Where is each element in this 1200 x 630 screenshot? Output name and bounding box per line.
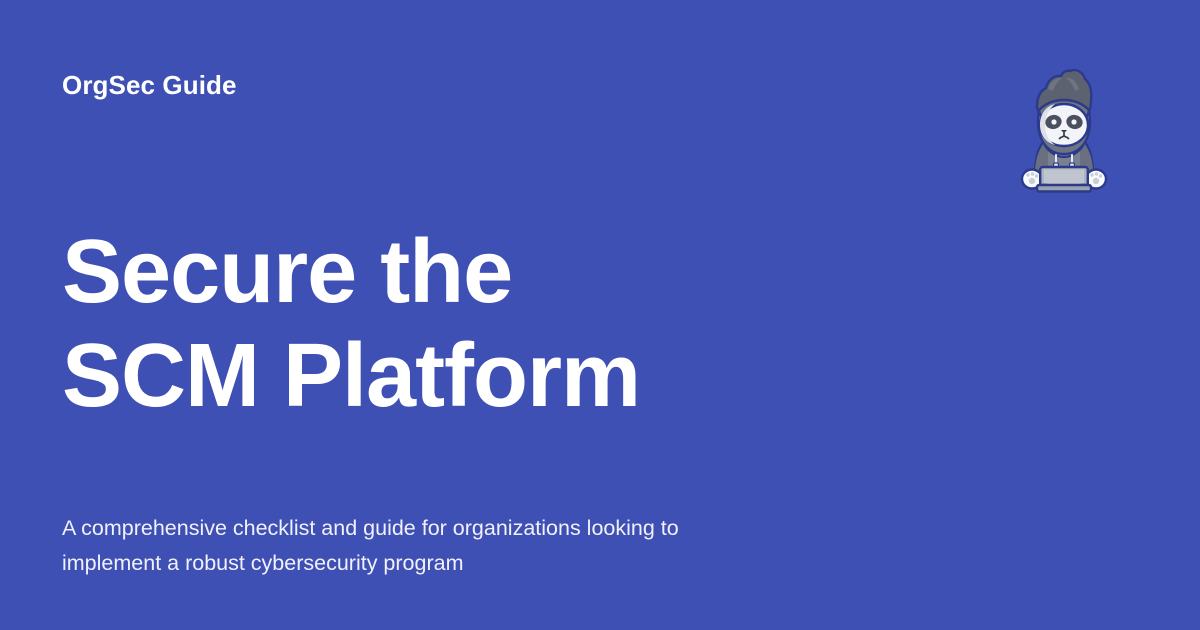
eyebrow-label: OrgSec Guide <box>62 68 237 102</box>
page-title: Secure the SCM Platform <box>62 220 942 428</box>
page-title-line-1: Secure the <box>62 220 942 324</box>
page-subtitle-line-2: implement a robust cybersecurity program <box>62 546 862 581</box>
og-banner-card: OrgSec Guide Secure the SCM Platform A c… <box>0 0 1200 630</box>
page-subtitle-line-1: A comprehensive checklist and guide for … <box>62 511 862 546</box>
hacker-panda-laptop-icon <box>1018 62 1110 196</box>
page-title-line-2: SCM Platform <box>62 324 942 428</box>
page-subtitle: A comprehensive checklist and guide for … <box>62 511 862 581</box>
